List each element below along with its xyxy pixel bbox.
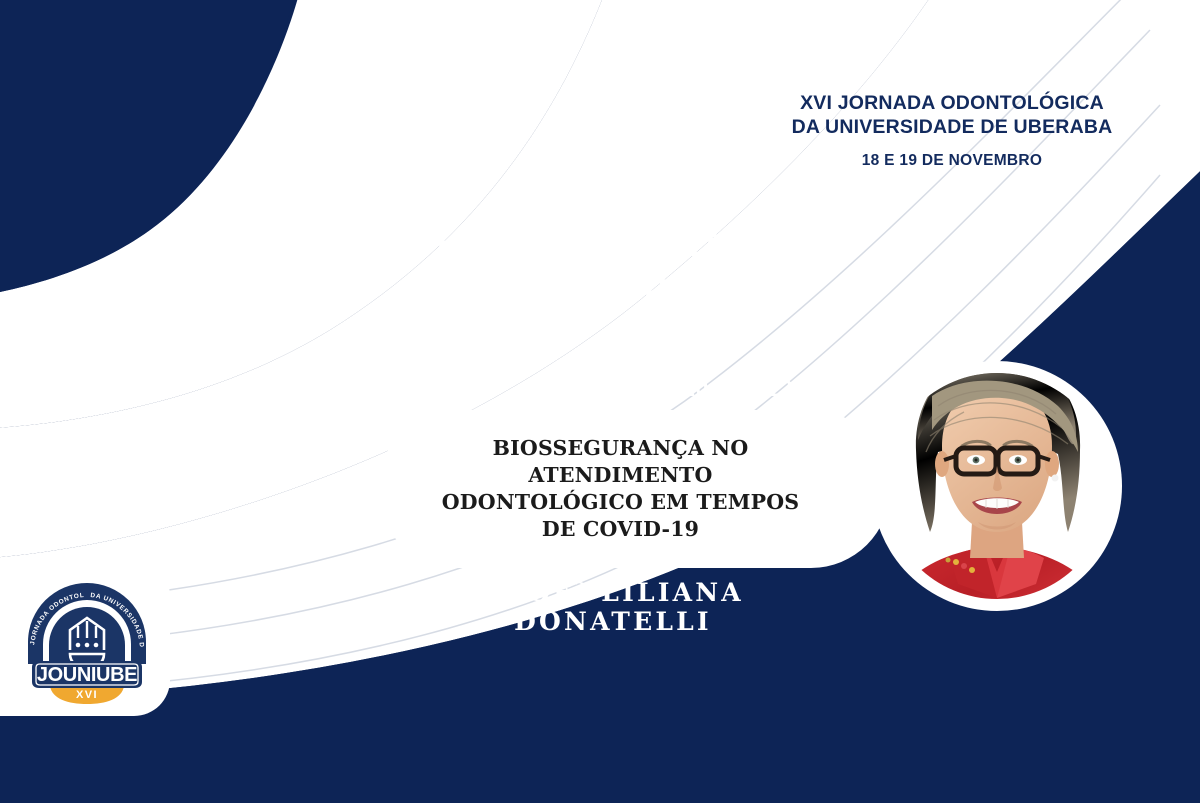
session-title-line-1: BIOSSEGURANÇA NO — [493, 435, 749, 462]
speaker-name: PROFª LILIANA DONATELLI — [378, 578, 848, 636]
speaker-portrait — [872, 336, 1122, 636]
day-line-1: DIA 18 DE NOVEMBRO — [30, 219, 1200, 268]
event-header: XVI JORNADA ODONTOLÓGICA DA UNIVERSIDADE… — [782, 92, 1122, 170]
session-title-line-2: ATENDIMENTO — [528, 462, 712, 489]
tooth-stars — [76, 643, 99, 648]
event-title-line2: DA UNIVERSIDADE DE UBERABA — [782, 116, 1122, 140]
portrait-earring — [1052, 475, 1059, 482]
portrait-ear-left — [935, 451, 949, 477]
session-title: BIOSSEGURANÇA NO ATENDIMENTO ODONTOLÓGIC… — [378, 418, 863, 560]
portrait-ear-right — [1045, 451, 1059, 477]
event-dates: 18 E 19 DE NOVEMBRO — [782, 152, 1122, 170]
session-title-line-4: DE COVID-19 — [542, 516, 699, 543]
logo-edition-label: XVI — [76, 689, 98, 701]
day-line-2: QUARTA-FEIRA — [30, 268, 1200, 317]
day-headline: DIA 18 DE NOVEMBRO QUARTA-FEIRA — [0, 219, 1200, 317]
event-title-line1: XVI JORNADA ODONTOLÓGICA — [782, 92, 1122, 116]
session-time: 10:00 - 12:00 — [655, 375, 855, 402]
session-title-line-3: ODONTOLÓGICO EM TEMPOS — [442, 489, 800, 516]
logo-wordmark: JOUNIUBE — [37, 664, 137, 686]
jouniube-logo: JORNADA ODONTOLÓGICA DA UNIVERSIDADE DE … — [18, 568, 156, 708]
